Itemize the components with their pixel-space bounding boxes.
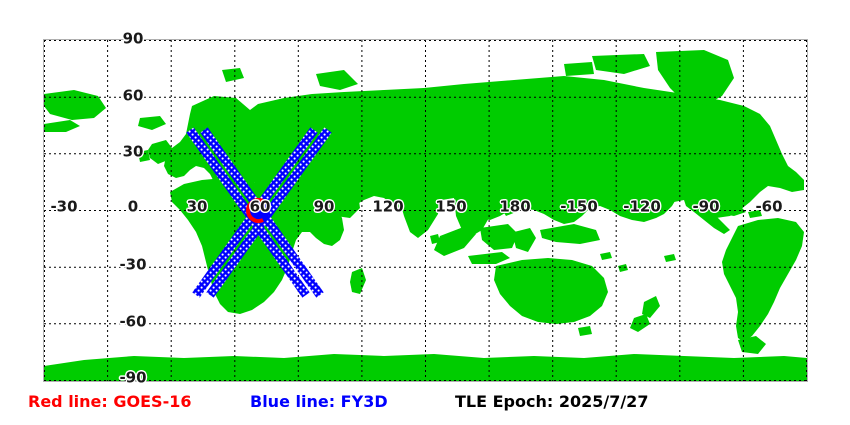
land-arctic-isl-2 xyxy=(564,62,594,76)
land-canada-arctic xyxy=(592,54,650,74)
land-pacific-isl-2 xyxy=(664,254,676,262)
lon-tick-120: 120 xyxy=(372,200,403,215)
lat-tick-0: 0 xyxy=(128,200,138,215)
land-sulawesi xyxy=(514,228,536,252)
land-java xyxy=(468,252,510,264)
lat-tick-90: 90 xyxy=(123,32,144,47)
legend-tle-epoch: TLE Epoch: 2025/7/27 xyxy=(455,392,648,412)
lon-tick-180: 180 xyxy=(499,200,530,215)
land-tasmania xyxy=(578,326,592,336)
land-novaya-zemlya xyxy=(316,70,358,90)
legend-blue-line: Blue line: FY3D xyxy=(250,392,388,412)
satellite-ground-track-map: -30 0 30 60 90 120 150 180 -150 -120 -90… xyxy=(0,0,850,425)
land-new-guinea xyxy=(540,224,600,244)
legend-red-line: Red line: GOES-16 xyxy=(28,392,191,412)
land-pacific-isl xyxy=(600,252,612,260)
land-sumatra xyxy=(434,226,476,256)
lon-tick-60: 60 xyxy=(250,200,271,215)
lat-tick-minus30: -30 xyxy=(119,258,146,273)
lat-tick-30: 30 xyxy=(123,145,144,160)
land-alaska-isl xyxy=(44,120,80,132)
land-borneo xyxy=(480,224,518,250)
land-australia xyxy=(494,258,608,324)
legend-footer: Red line: GOES-16 Blue line: FY3D TLE Ep… xyxy=(0,392,850,425)
lon-tick-minus120: -120 xyxy=(623,200,661,215)
lon-tick-150: 150 xyxy=(435,200,466,215)
lon-tick-minus30: -30 xyxy=(50,200,77,215)
land-new-zealand-south xyxy=(630,314,650,332)
lon-tick-minus90: -90 xyxy=(692,200,719,215)
land-svalbard xyxy=(222,68,244,82)
land-madagascar xyxy=(350,268,366,294)
lat-tick-minus90: -90 xyxy=(119,371,146,386)
lat-tick-minus60: -60 xyxy=(119,315,146,330)
land-alaska-wrap xyxy=(44,90,106,120)
land-india xyxy=(400,188,440,238)
lon-tick-minus60: -60 xyxy=(755,200,782,215)
lat-tick-60: 60 xyxy=(123,89,144,104)
lon-tick-minus150: -150 xyxy=(560,200,598,215)
land-fiji xyxy=(618,264,628,272)
land-iceland xyxy=(138,116,166,130)
lon-tick-90: 90 xyxy=(314,200,335,215)
lon-tick-30: 30 xyxy=(187,200,208,215)
